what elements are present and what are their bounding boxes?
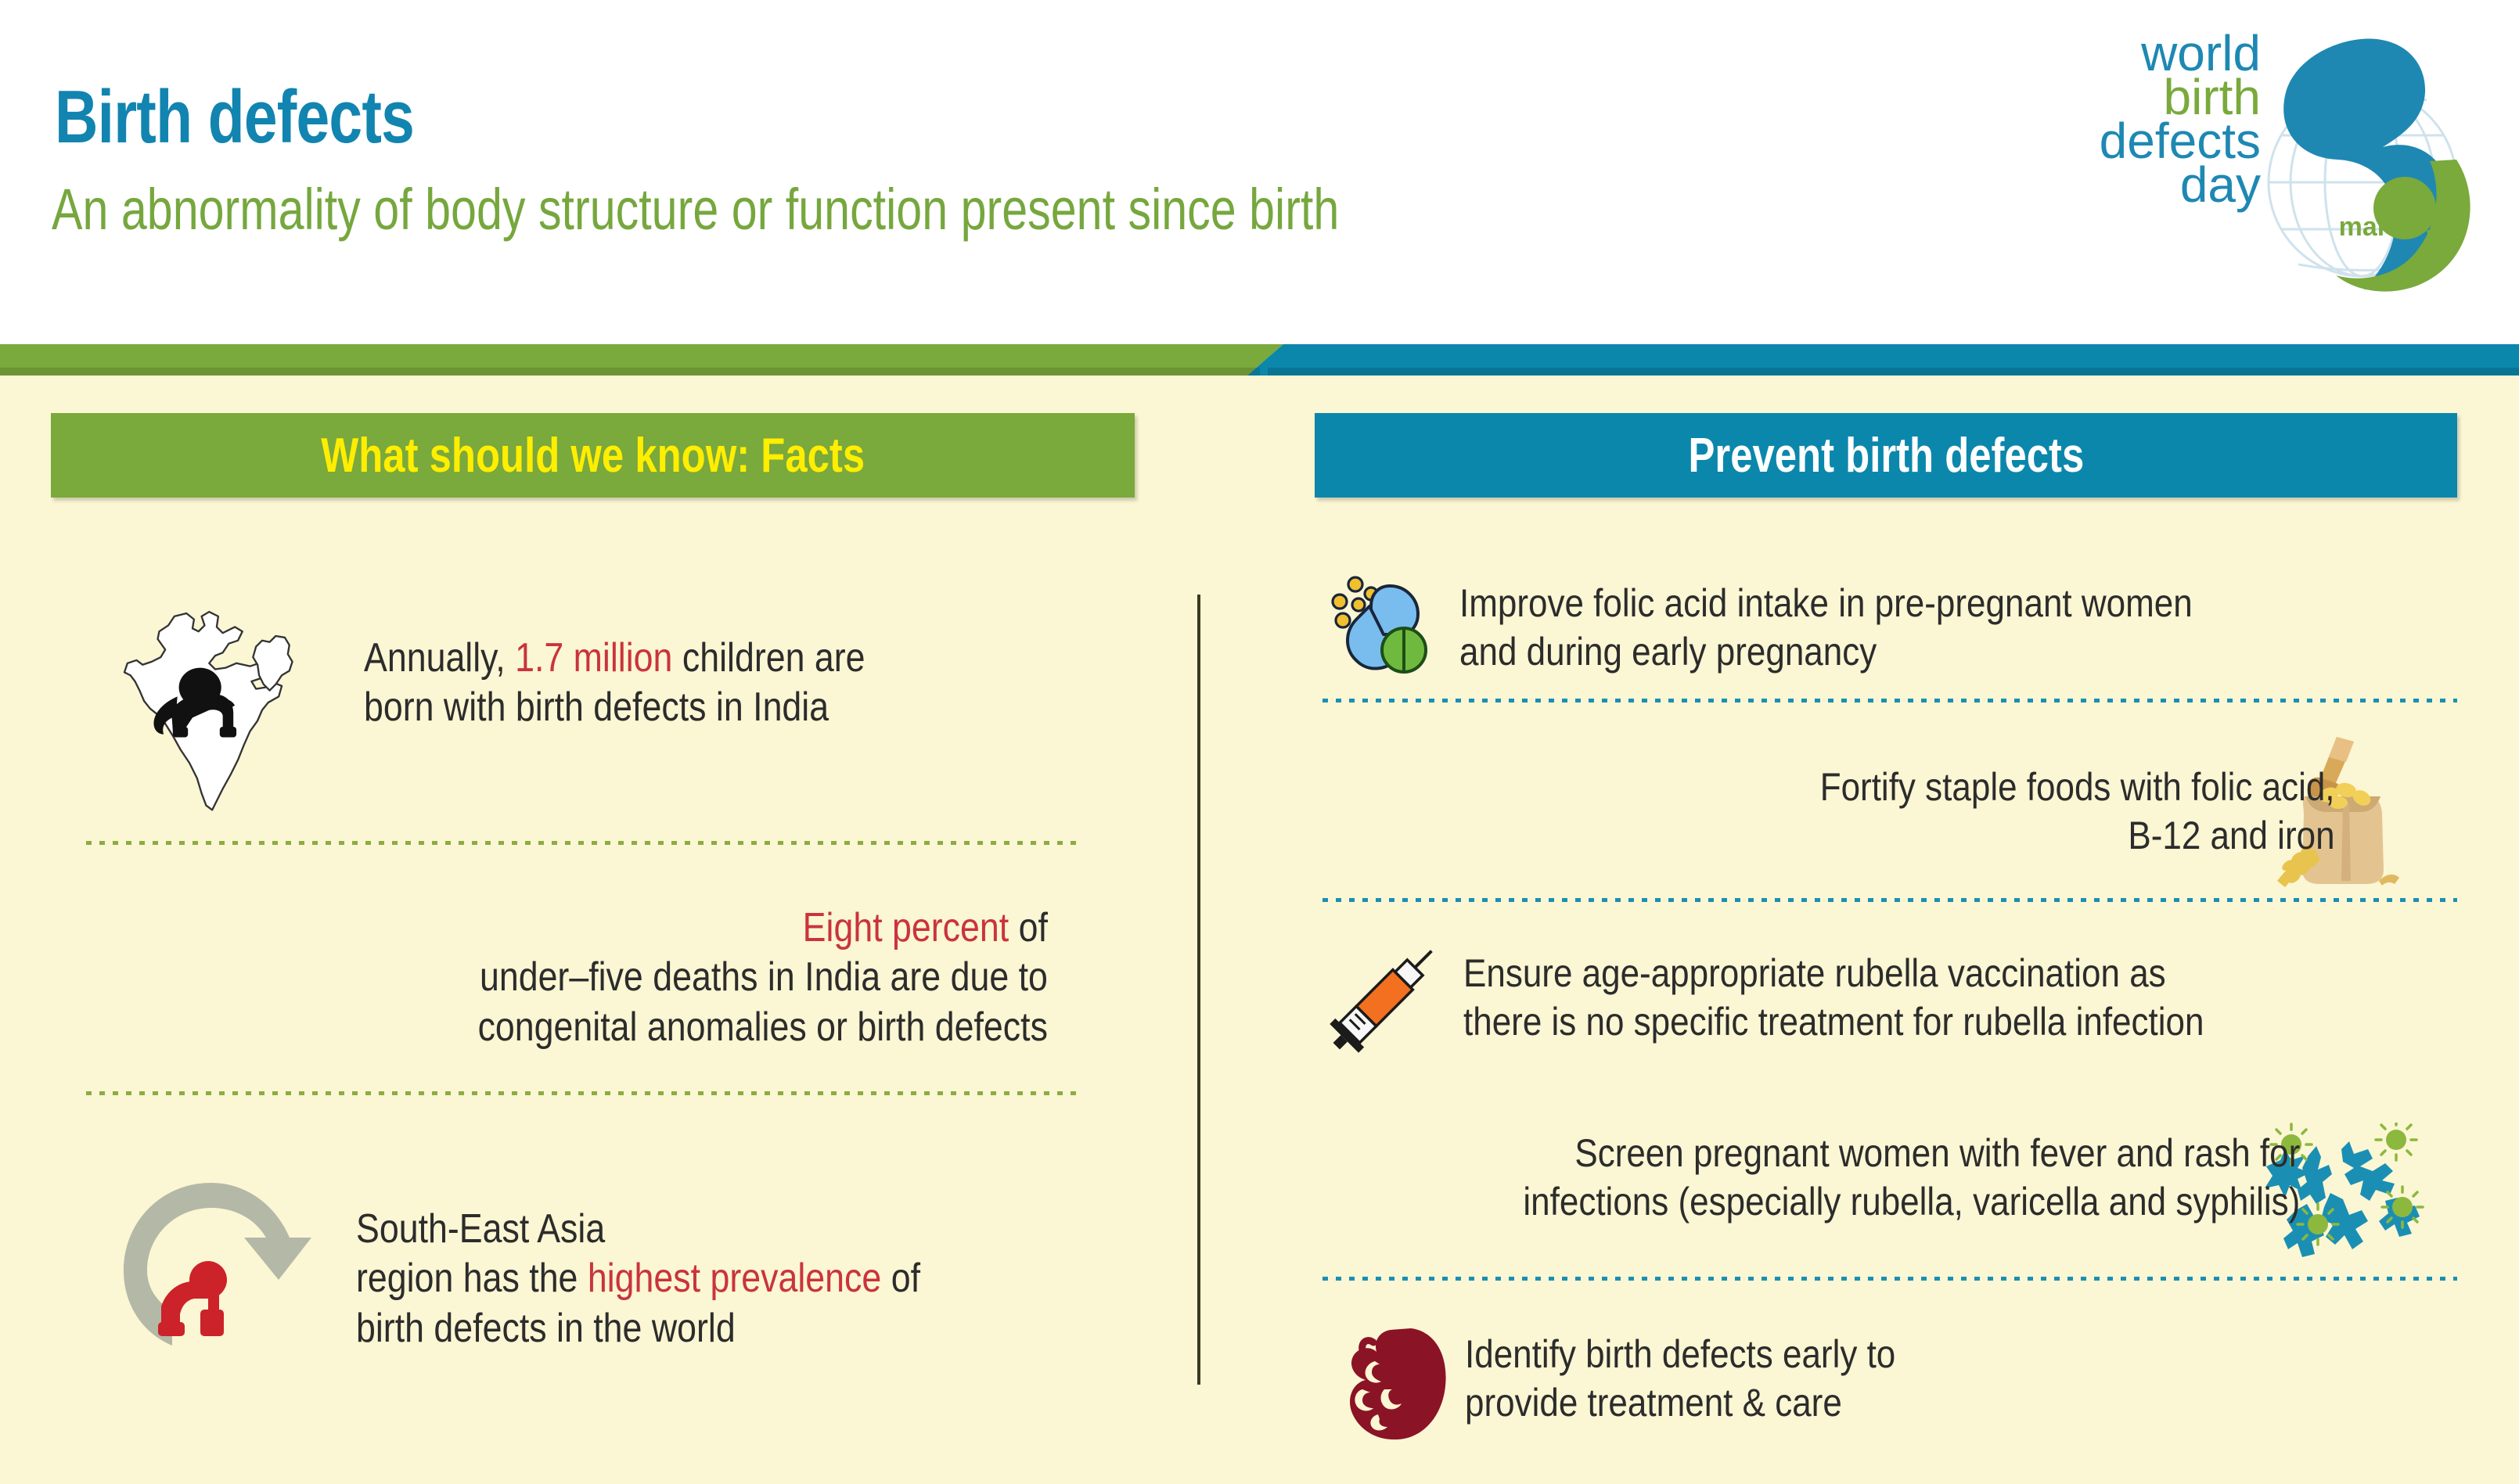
fact-item-1: Annually, 1.7 million children are born … bbox=[364, 634, 947, 733]
fact-2-line-3: congenital anomalies or birth defects bbox=[478, 1003, 1048, 1052]
fetus-embryo-icon bbox=[1326, 1314, 1467, 1455]
fact-2-highlight: Eight percent bbox=[803, 905, 1009, 950]
prevention-4-line-2: infections (especially rubella, varicell… bbox=[1523, 1177, 2300, 1226]
fact-item-2: Eight percent of under–five deaths in In… bbox=[385, 904, 1048, 1052]
prevention-item-3: Ensure age-appropriate rubella vaccinati… bbox=[1463, 949, 2305, 1046]
prevention-3-line-1: Ensure age-appropriate rubella vaccinati… bbox=[1463, 949, 2204, 997]
fact-1-line-1: Annually, 1.7 million children are bbox=[364, 634, 865, 683]
fact-3-highlight: highest prevalence bbox=[588, 1256, 881, 1301]
syringe-icon bbox=[1315, 927, 1456, 1068]
fact-3-line-3: birth defects in the world bbox=[356, 1304, 920, 1353]
facts-section-header: What should we know: Facts bbox=[51, 413, 1135, 498]
prevention-divider-4 bbox=[1322, 1277, 2457, 1281]
prevention-4-line-1: Screen pregnant women with fever and ras… bbox=[1523, 1129, 2300, 1177]
india-map-baby-icon bbox=[102, 591, 329, 817]
prevention-2-line-1: Fortify staple foods with folic acid, bbox=[1820, 763, 2335, 811]
page-title: Birth defects bbox=[55, 74, 414, 160]
prevent-section-header: Prevent birth defects bbox=[1315, 413, 2457, 498]
prevention-1-line-1: Improve folic acid intake in pre-pregnan… bbox=[1459, 579, 2193, 627]
prevention-5-line-1: Identify birth defects early to bbox=[1465, 1330, 1895, 1378]
page-subtitle: An abnormality of body structure or func… bbox=[52, 176, 1339, 243]
fact-3-text-b: of bbox=[881, 1256, 920, 1301]
facts-divider-1 bbox=[86, 841, 1076, 845]
fact-2-line-1: Eight percent of bbox=[478, 904, 1048, 953]
fact-2-text-a: of bbox=[1009, 905, 1048, 950]
header-banner-stripe bbox=[0, 344, 2519, 375]
pills-capsule-icon bbox=[1322, 559, 1432, 677]
prevention-item-5: Identify birth defects early to provide … bbox=[1465, 1330, 1954, 1427]
fact-1-text-a: Annually, bbox=[364, 635, 515, 681]
fact-3-text-a: region has the bbox=[356, 1256, 588, 1301]
banner-blue-shadow bbox=[1268, 368, 2519, 375]
page-header: Birth defects An abnormality of body str… bbox=[0, 0, 2519, 344]
fact-1-highlight: 1.7 million bbox=[515, 635, 672, 681]
prevention-2-line-2: B-12 and iron bbox=[1820, 811, 2335, 860]
logo-date-march-3: march 3 bbox=[2339, 214, 2441, 240]
fact-3-line-2: region has the highest prevalence of bbox=[356, 1254, 920, 1303]
prevention-1-line-2: and during early pregnancy bbox=[1459, 627, 2193, 676]
prevention-item-1: Improve folic acid intake in pre-pregnan… bbox=[1459, 579, 2292, 676]
world-birth-defects-day-logo: world birth defects day march 3 bbox=[2089, 14, 2496, 327]
prevention-divider-2 bbox=[1322, 898, 2457, 902]
fact-1-text-b: children are bbox=[672, 635, 865, 681]
banner-green-shadow bbox=[0, 368, 1260, 375]
prevention-3-line-2: there is no specific treatment for rubel… bbox=[1463, 997, 2204, 1046]
prevention-item-2: Fortify staple foods with folic acid, B-… bbox=[1750, 763, 2335, 860]
prevention-5-line-2: provide treatment & care bbox=[1465, 1378, 1895, 1427]
fact-1-line-2: born with birth defects in India bbox=[364, 683, 865, 732]
prevention-divider-1 bbox=[1322, 699, 2457, 702]
prevention-item-4: Screen pregnant women with fever and ras… bbox=[1417, 1129, 2300, 1226]
fact-item-3: South-East Asia region has the highest p… bbox=[356, 1205, 1012, 1353]
column-divider bbox=[1197, 595, 1200, 1385]
facts-divider-2 bbox=[86, 1091, 1076, 1095]
recycle-arrow-baby-icon bbox=[102, 1166, 321, 1361]
fact-2-line-2: under–five deaths in India are due to bbox=[478, 953, 1048, 1002]
facts-section-header-label: What should we know: Facts bbox=[321, 428, 865, 483]
fact-3-line-1: South-East Asia bbox=[356, 1205, 920, 1254]
prevent-section-header-label: Prevent birth defects bbox=[1688, 428, 2084, 483]
logo-line-day: day bbox=[2180, 160, 2261, 210]
